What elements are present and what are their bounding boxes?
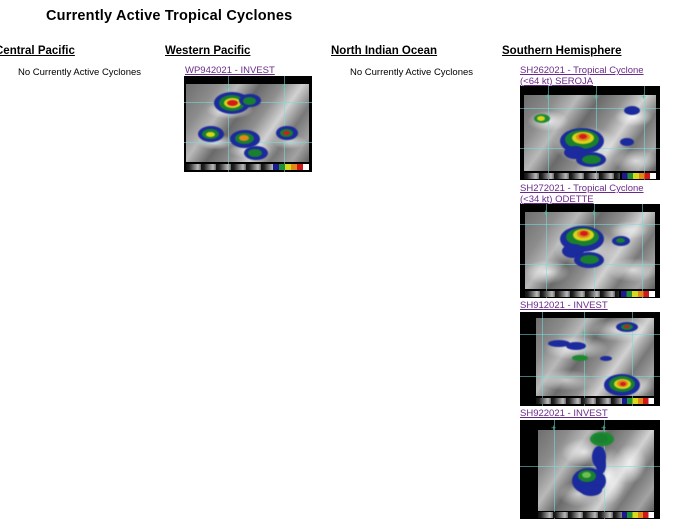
satellite-image-sh912021: + (520, 312, 660, 406)
page-title: Currently Active Tropical Cyclones (46, 8, 292, 24)
satellite-image-wp942021: + + (184, 76, 312, 172)
satellite-image-sh272021: + + (520, 204, 660, 298)
storm-thumbnail-sh262021[interactable]: + + + (520, 86, 660, 180)
storm-thumbnail-sh922021[interactable]: + + (520, 420, 660, 519)
storm-thumbnail-wp942021[interactable]: + + (184, 76, 312, 172)
storm-link-sh272021[interactable]: SH272021 - Tropical Cyclone (<34 kt) ODE… (520, 183, 662, 205)
storm-thumbnail-sh912021[interactable]: + (520, 312, 660, 406)
basin-header-western-pacific[interactable]: Western Pacific (165, 45, 250, 57)
basin-header-southern-hemisphere[interactable]: Southern Hemisphere (502, 45, 622, 57)
satellite-image-sh922021: + + (520, 420, 660, 519)
storm-link-sh922021[interactable]: SH922021 - INVEST (520, 408, 662, 419)
no-active-cyclones-central-pacific: No Currently Active Cyclones (18, 67, 141, 78)
storm-thumbnail-sh272021[interactable]: + + (520, 204, 660, 298)
basin-header-central-pacific[interactable]: Central Pacific (0, 45, 75, 57)
basin-header-north-indian-ocean[interactable]: North Indian Ocean (331, 45, 437, 57)
storm-link-wp942021[interactable]: WP942021 - INVEST (185, 65, 305, 76)
satellite-image-sh262021: + + + (520, 86, 660, 180)
no-active-cyclones-north-indian-ocean: No Currently Active Cyclones (350, 67, 473, 78)
page-body: { "page": { "title": "Currently Active T… (0, 0, 699, 519)
storm-link-sh262021[interactable]: SH262021 - Tropical Cyclone (<64 kt) SER… (520, 65, 662, 87)
storm-link-sh912021[interactable]: SH912021 - INVEST (520, 300, 662, 311)
